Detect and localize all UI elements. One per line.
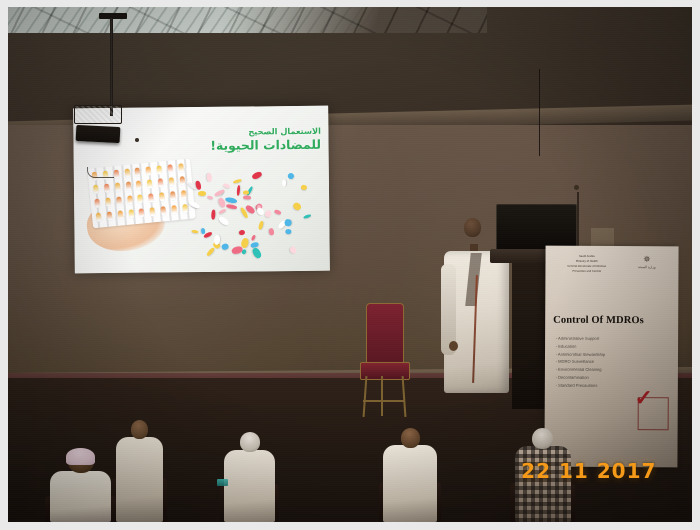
capsule (136, 181, 142, 190)
presenter-neck (470, 244, 478, 251)
capsule (135, 168, 141, 177)
audience-head (532, 428, 553, 449)
projector-ceiling-plate (99, 13, 127, 19)
banner-bullet-item: - Education (556, 345, 671, 350)
microphone-icon (574, 185, 579, 190)
capsule (95, 213, 101, 222)
attendee-checkered (515, 389, 571, 522)
pill (187, 200, 200, 210)
ceiling-tile-grid (8, 7, 487, 33)
audience-torso (50, 471, 111, 522)
capsule (128, 210, 134, 219)
projector-icon (75, 125, 120, 143)
capsule (105, 198, 111, 207)
pill (284, 219, 292, 227)
capsule (148, 194, 154, 203)
capsule (104, 184, 110, 193)
capsule (167, 164, 173, 173)
pill (205, 247, 214, 257)
presenter-hand (449, 341, 458, 351)
capsule (139, 208, 145, 217)
audience-head (401, 428, 420, 448)
capsule (158, 179, 164, 188)
pill (211, 211, 215, 221)
capsule (116, 197, 122, 206)
pill (243, 196, 251, 200)
pill (201, 228, 205, 234)
pill (264, 210, 272, 219)
pill (273, 209, 281, 215)
tablet-device (217, 479, 228, 486)
capsule (170, 192, 176, 201)
banner-logo: ✵ وزارة الصحة (624, 255, 669, 269)
capsule (127, 196, 133, 205)
capsule (125, 182, 131, 191)
pill (206, 174, 212, 183)
capsule (114, 183, 120, 192)
pill (257, 221, 263, 231)
capsule (124, 169, 130, 178)
attendee-front-cap (50, 406, 111, 522)
capsule (113, 170, 119, 179)
attendee-bald-center-left (116, 384, 163, 522)
pill (221, 243, 229, 251)
pill (251, 171, 263, 180)
capsule (145, 167, 151, 176)
pill (195, 180, 202, 190)
slide-heading: الاستعمال الصحيح للمضادات الحيوية! (147, 128, 321, 154)
audience-head (240, 432, 260, 452)
pill (287, 172, 295, 180)
pill (269, 228, 274, 235)
pill (233, 179, 243, 185)
banner-org-text: Saudi ArabiaMinistry of HealthGeneral Di… (556, 255, 617, 275)
pill (191, 230, 199, 234)
pill (291, 202, 302, 212)
projector-mount-pole (110, 18, 113, 116)
pill (226, 204, 237, 210)
capsule (94, 199, 100, 208)
pill (285, 230, 291, 235)
capsule (137, 195, 143, 204)
pill (217, 216, 229, 227)
slide-heading-line2: للمضادات الحيوية! (147, 138, 321, 154)
audience-torso (116, 437, 163, 522)
capsule (156, 166, 162, 175)
photo-frame: الاستعمال الصحيح للمضادات الحيوية! (0, 0, 700, 530)
presenter-head (464, 218, 481, 237)
banner-org-line: Prevention and Control (556, 270, 617, 275)
pill (218, 209, 227, 216)
audience-torso (515, 446, 571, 522)
capsule (171, 205, 177, 214)
pill (237, 185, 241, 197)
ministry-crest-icon: ✵ (624, 255, 669, 264)
audience (8, 352, 692, 522)
banner-bullet-item: - Administrative Support (556, 337, 671, 342)
pill (255, 207, 265, 217)
pill (206, 195, 212, 200)
audience-torso (224, 450, 276, 522)
projector-cage (74, 105, 122, 124)
taqiyah-cap (66, 448, 95, 465)
pill (250, 236, 255, 242)
pill (282, 181, 286, 188)
capsule (168, 178, 174, 187)
slide-image-pill-pile (183, 171, 327, 272)
pill (251, 247, 262, 259)
audience-head (131, 420, 148, 439)
capsule (93, 185, 99, 194)
capsule (160, 206, 166, 215)
microphone-stem (577, 192, 578, 249)
pill (198, 191, 206, 196)
audience-torso (383, 445, 437, 522)
capsule (117, 211, 123, 220)
banner-title: Control Of MDROs (553, 315, 673, 327)
pill (300, 185, 306, 191)
attendee-center-right (383, 389, 437, 522)
camera-date-stamp: 22 11 2017 (521, 459, 656, 483)
capsule (147, 180, 153, 189)
pill (289, 246, 297, 255)
pill (238, 230, 245, 236)
capsule (159, 193, 165, 202)
conference-photograph: الاستعمال الصحيح للمضادات الحيوية! (8, 7, 692, 522)
hanging-cable (539, 69, 541, 157)
pill (303, 214, 312, 220)
banner-logo-arabic: وزارة الصحة (624, 265, 669, 269)
capsule (106, 212, 112, 221)
capsule (149, 207, 155, 216)
attendee-grey-hair (224, 393, 276, 522)
projector-wire (87, 167, 114, 178)
